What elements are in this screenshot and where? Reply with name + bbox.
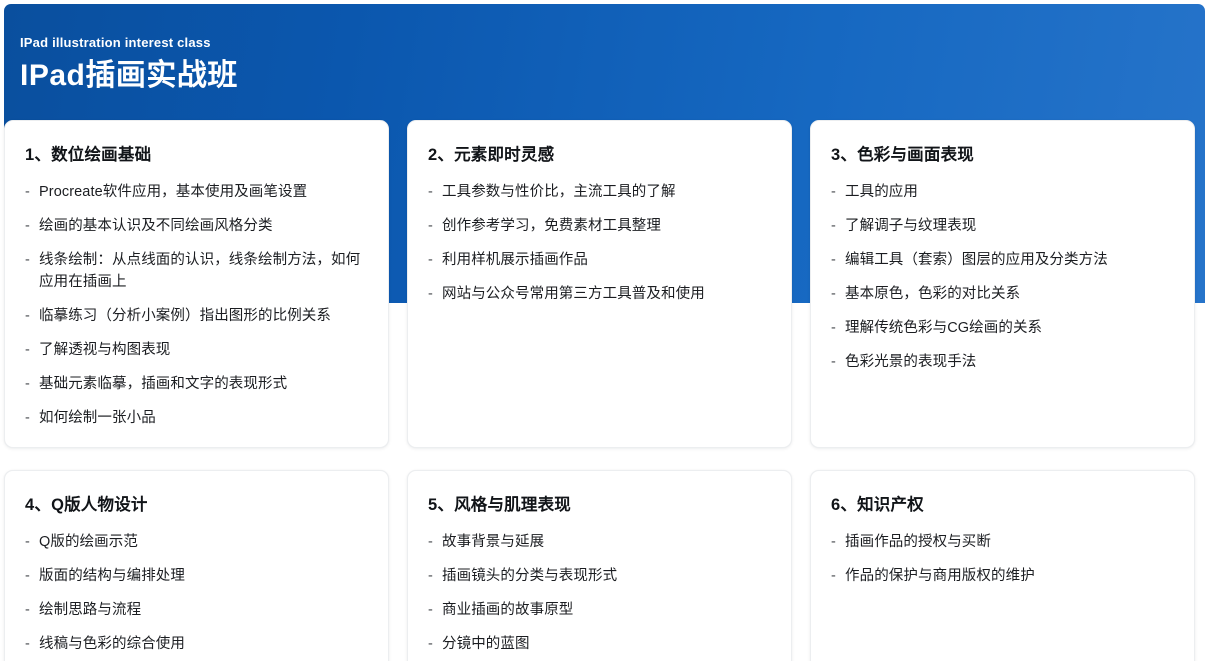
list-item-label: 了解调子与纹理表现	[845, 215, 1174, 237]
module-item-list: - 插画作品的授权与买断 - 作品的保护与商用版权的维护	[831, 531, 1174, 587]
dash-icon: -	[25, 249, 39, 271]
list-item-label: 了解透视与构图表现	[39, 339, 368, 361]
list-item: - 色彩光景的表现手法	[831, 351, 1174, 373]
dash-icon: -	[831, 565, 845, 587]
dash-icon: -	[428, 531, 442, 553]
dash-icon: -	[831, 531, 845, 553]
module-card-5[interactable]: 5、风格与肌理表现 - 故事背景与延展 - 插画镜头的分类与表现形式 - 商业插…	[407, 470, 792, 661]
banner-title: IPad插画实战班	[20, 56, 238, 96]
module-item-list: - Q版的绘画示范 - 版面的结构与编排处理 - 绘制思路与流程 - 线稿与色彩…	[25, 531, 368, 661]
module-title: 5、风格与肌理表现	[428, 493, 771, 517]
list-item-label: 工具参数与性价比，主流工具的了解	[442, 181, 771, 203]
list-item-label: 理解传统色彩与CG绘画的关系	[845, 317, 1174, 339]
dash-icon: -	[428, 249, 442, 271]
list-item: - 分镜中的蓝图	[428, 633, 771, 655]
list-item: - 网站与公众号常用第三方工具普及和使用	[428, 283, 771, 305]
list-item: - 了解调子与纹理表现	[831, 215, 1174, 237]
module-title: 3、色彩与画面表现	[831, 143, 1174, 167]
list-item: - 了解透视与构图表现	[25, 339, 368, 361]
list-item-label: 色彩光景的表现手法	[845, 351, 1174, 373]
list-item: - Procreate软件应用，基本使用及画笔设置	[25, 181, 368, 203]
list-item: - 绘制思路与流程	[25, 599, 368, 621]
list-item-label: 如何绘制一张小品	[39, 407, 368, 429]
list-item: - 插画镜头的分类与表现形式	[428, 565, 771, 587]
module-item-list: - 故事背景与延展 - 插画镜头的分类与表现形式 - 商业插画的故事原型 - 分…	[428, 531, 771, 655]
list-item: - 创作参考学习，免费素材工具整理	[428, 215, 771, 237]
module-title: 1、数位绘画基础	[25, 143, 368, 167]
dash-icon: -	[428, 215, 442, 237]
module-item-list: - 工具参数与性价比，主流工具的了解 - 创作参考学习，免费素材工具整理 - 利…	[428, 181, 771, 305]
dash-icon: -	[428, 599, 442, 621]
list-item-label: 故事背景与延展	[442, 531, 771, 553]
dash-icon: -	[25, 531, 39, 553]
dash-icon: -	[25, 181, 39, 203]
list-item: - 线条绘制：从点线面的认识，线条绘制方法，如何应用在插画上	[25, 249, 368, 293]
module-card-4[interactable]: 4、Q版人物设计 - Q版的绘画示范 - 版面的结构与编排处理 - 绘制思路与流…	[4, 470, 389, 661]
list-item-label: 线条绘制：从点线面的认识，线条绘制方法，如何应用在插画上	[39, 249, 368, 293]
list-item: - 工具参数与性价比，主流工具的了解	[428, 181, 771, 203]
module-item-list: - Procreate软件应用，基本使用及画笔设置 - 绘画的基本认识及不同绘画…	[25, 181, 368, 429]
dash-icon: -	[831, 181, 845, 203]
dash-icon: -	[428, 283, 442, 305]
module-title: 6、知识产权	[831, 493, 1174, 517]
list-item-label: 临摹练习（分析小案例）指出图形的比例关系	[39, 305, 368, 327]
dash-icon: -	[25, 407, 39, 429]
dash-icon: -	[831, 283, 845, 305]
dash-icon: -	[428, 181, 442, 203]
list-item: - 临摹练习（分析小案例）指出图形的比例关系	[25, 305, 368, 327]
dash-icon: -	[25, 565, 39, 587]
module-card-1[interactable]: 1、数位绘画基础 - Procreate软件应用，基本使用及画笔设置 - 绘画的…	[4, 120, 389, 448]
list-item: - 插画作品的授权与买断	[831, 531, 1174, 553]
list-item-label: 分镜中的蓝图	[442, 633, 771, 655]
dash-icon: -	[25, 305, 39, 327]
banner-text-block: IPad illustration interest class IPad插画实…	[20, 34, 238, 96]
module-card-grid: 1、数位绘画基础 - Procreate软件应用，基本使用及画笔设置 - 绘画的…	[4, 120, 1205, 661]
list-item-label: Q版的绘画示范	[39, 531, 368, 553]
dash-icon: -	[831, 215, 845, 237]
list-item-label: 版面的结构与编排处理	[39, 565, 368, 587]
list-item: - 工具的应用	[831, 181, 1174, 203]
list-item: - Q版的绘画示范	[25, 531, 368, 553]
list-item: - 线稿与色彩的综合使用	[25, 633, 368, 655]
dash-icon: -	[831, 249, 845, 271]
dash-icon: -	[428, 633, 442, 655]
list-item-label: Procreate软件应用，基本使用及画笔设置	[39, 181, 368, 203]
list-item-label: 绘制思路与流程	[39, 599, 368, 621]
list-item: - 基础元素临摹，插画和文字的表现形式	[25, 373, 368, 395]
module-item-list: - 工具的应用 - 了解调子与纹理表现 - 编辑工具（套索）图层的应用及分类方法…	[831, 181, 1174, 373]
list-item-label: 插画作品的授权与买断	[845, 531, 1174, 553]
list-item: - 故事背景与延展	[428, 531, 771, 553]
module-card-6[interactable]: 6、知识产权 - 插画作品的授权与买断 - 作品的保护与商用版权的维护	[810, 470, 1195, 661]
dash-icon: -	[25, 373, 39, 395]
list-item: - 编辑工具（套索）图层的应用及分类方法	[831, 249, 1174, 271]
list-item: - 商业插画的故事原型	[428, 599, 771, 621]
list-item: - 绘画的基本认识及不同绘画风格分类	[25, 215, 368, 237]
list-item: - 利用样机展示插画作品	[428, 249, 771, 271]
list-item-label: 编辑工具（套索）图层的应用及分类方法	[845, 249, 1174, 271]
dash-icon: -	[831, 317, 845, 339]
list-item-label: 网站与公众号常用第三方工具普及和使用	[442, 283, 771, 305]
list-item: - 理解传统色彩与CG绘画的关系	[831, 317, 1174, 339]
dash-icon: -	[831, 351, 845, 373]
list-item-label: 插画镜头的分类与表现形式	[442, 565, 771, 587]
module-card-3[interactable]: 3、色彩与画面表现 - 工具的应用 - 了解调子与纹理表现 - 编辑工具（套索）…	[810, 120, 1195, 448]
list-item: - 基本原色，色彩的对比关系	[831, 283, 1174, 305]
dash-icon: -	[25, 215, 39, 237]
list-item-label: 线稿与色彩的综合使用	[39, 633, 368, 655]
list-item: - 版面的结构与编排处理	[25, 565, 368, 587]
list-item-label: 绘画的基本认识及不同绘画风格分类	[39, 215, 368, 237]
list-item-label: 利用样机展示插画作品	[442, 249, 771, 271]
list-item-label: 基础元素临摹，插画和文字的表现形式	[39, 373, 368, 395]
list-item-label: 基本原色，色彩的对比关系	[845, 283, 1174, 305]
module-card-2[interactable]: 2、元素即时灵感 - 工具参数与性价比，主流工具的了解 - 创作参考学习，免费素…	[407, 120, 792, 448]
dash-icon: -	[25, 339, 39, 361]
dash-icon: -	[25, 633, 39, 655]
course-syllabus-page: IPad illustration interest class IPad插画实…	[0, 0, 1209, 661]
dash-icon: -	[25, 599, 39, 621]
dash-icon: -	[428, 565, 442, 587]
list-item-label: 工具的应用	[845, 181, 1174, 203]
module-title: 4、Q版人物设计	[25, 493, 368, 517]
module-title: 2、元素即时灵感	[428, 143, 771, 167]
list-item-label: 商业插画的故事原型	[442, 599, 771, 621]
list-item-label: 创作参考学习，免费素材工具整理	[442, 215, 771, 237]
banner-subtitle: IPad illustration interest class	[20, 34, 238, 52]
list-item: - 如何绘制一张小品	[25, 407, 368, 429]
list-item-label: 作品的保护与商用版权的维护	[845, 565, 1174, 587]
list-item: - 作品的保护与商用版权的维护	[831, 565, 1174, 587]
